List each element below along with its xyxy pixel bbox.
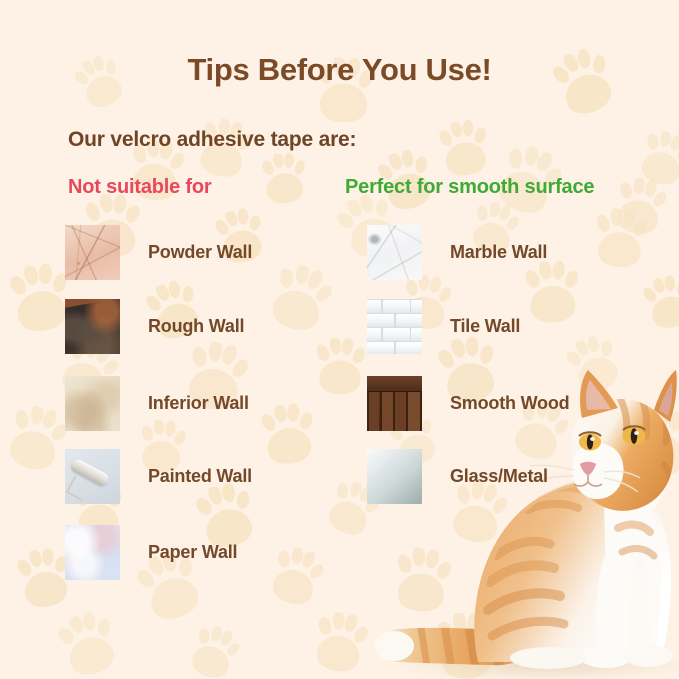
- paw-print-icon: [629, 406, 679, 481]
- tips-poster: Tips Before You Use! Our velcro adhesive…: [0, 0, 679, 679]
- page-title: Tips Before You Use!: [0, 52, 679, 88]
- paw-print-icon: [263, 542, 328, 611]
- column-heading-not-suitable: Not suitable for: [68, 176, 211, 199]
- paw-print-icon: [390, 546, 454, 616]
- rough-wall-swatch: [65, 299, 120, 354]
- list-item-label: Marble Wall: [450, 242, 547, 263]
- paw-print-icon: [52, 607, 124, 679]
- list-item-marble-wall: Marble Wall: [367, 225, 547, 280]
- paw-print-icon: [521, 543, 576, 602]
- paw-print-icon: [591, 208, 648, 271]
- powder-wall-swatch: [65, 225, 120, 280]
- paw-print-icon: [0, 401, 72, 478]
- list-item-label: Smooth Wood: [450, 393, 569, 414]
- column-heading-perfect-for: Perfect for smooth surface: [345, 176, 594, 199]
- paw-print-icon: [638, 271, 679, 334]
- list-item-powder-wall: Powder Wall: [65, 225, 252, 280]
- paw-print-icon: [560, 330, 628, 401]
- inferior-wall-swatch: [65, 376, 120, 431]
- tile-wall-swatch: [367, 299, 422, 354]
- list-item-inferior-wall: Inferior Wall: [65, 376, 249, 431]
- list-item-paper-wall: Paper Wall: [65, 525, 237, 580]
- marble-wall-swatch: [367, 225, 422, 280]
- list-item-label: Rough Wall: [148, 316, 244, 337]
- list-item-label: Powder Wall: [148, 242, 252, 263]
- paw-print-icon: [183, 620, 245, 679]
- list-item-label: Painted Wall: [148, 466, 252, 487]
- list-item-glass-metal: Glass/Metal: [367, 449, 548, 504]
- list-item-painted-wall: Painted Wall: [65, 449, 252, 504]
- paper-wall-swatch: [65, 525, 120, 580]
- subtitle: Our velcro adhesive tape are:: [68, 128, 356, 152]
- smooth-wood-swatch: [367, 376, 422, 431]
- paw-print-icon: [610, 174, 671, 239]
- list-item-label: Glass/Metal: [450, 466, 548, 487]
- list-item-label: Tile Wall: [450, 316, 520, 337]
- paw-print-icon: [308, 609, 371, 677]
- list-item-label: Inferior Wall: [148, 393, 249, 414]
- paw-print-icon: [580, 479, 627, 531]
- paw-print-icon: [434, 612, 498, 679]
- paw-print-icon: [262, 259, 339, 340]
- paw-print-icon: [633, 126, 679, 192]
- paw-print-icon: [257, 401, 320, 469]
- paw-print-icon: [259, 151, 310, 206]
- glass-metal-swatch: [367, 449, 422, 504]
- paw-print-icon: [434, 117, 493, 181]
- list-item-rough-wall: Rough Wall: [65, 299, 244, 354]
- painted-wall-swatch: [65, 449, 120, 504]
- list-item-tile-wall: Tile Wall: [367, 299, 520, 354]
- list-item-smooth-wood: Smooth Wood: [367, 376, 569, 431]
- list-item-label: Paper Wall: [148, 542, 237, 563]
- paw-print-icon: [314, 338, 367, 396]
